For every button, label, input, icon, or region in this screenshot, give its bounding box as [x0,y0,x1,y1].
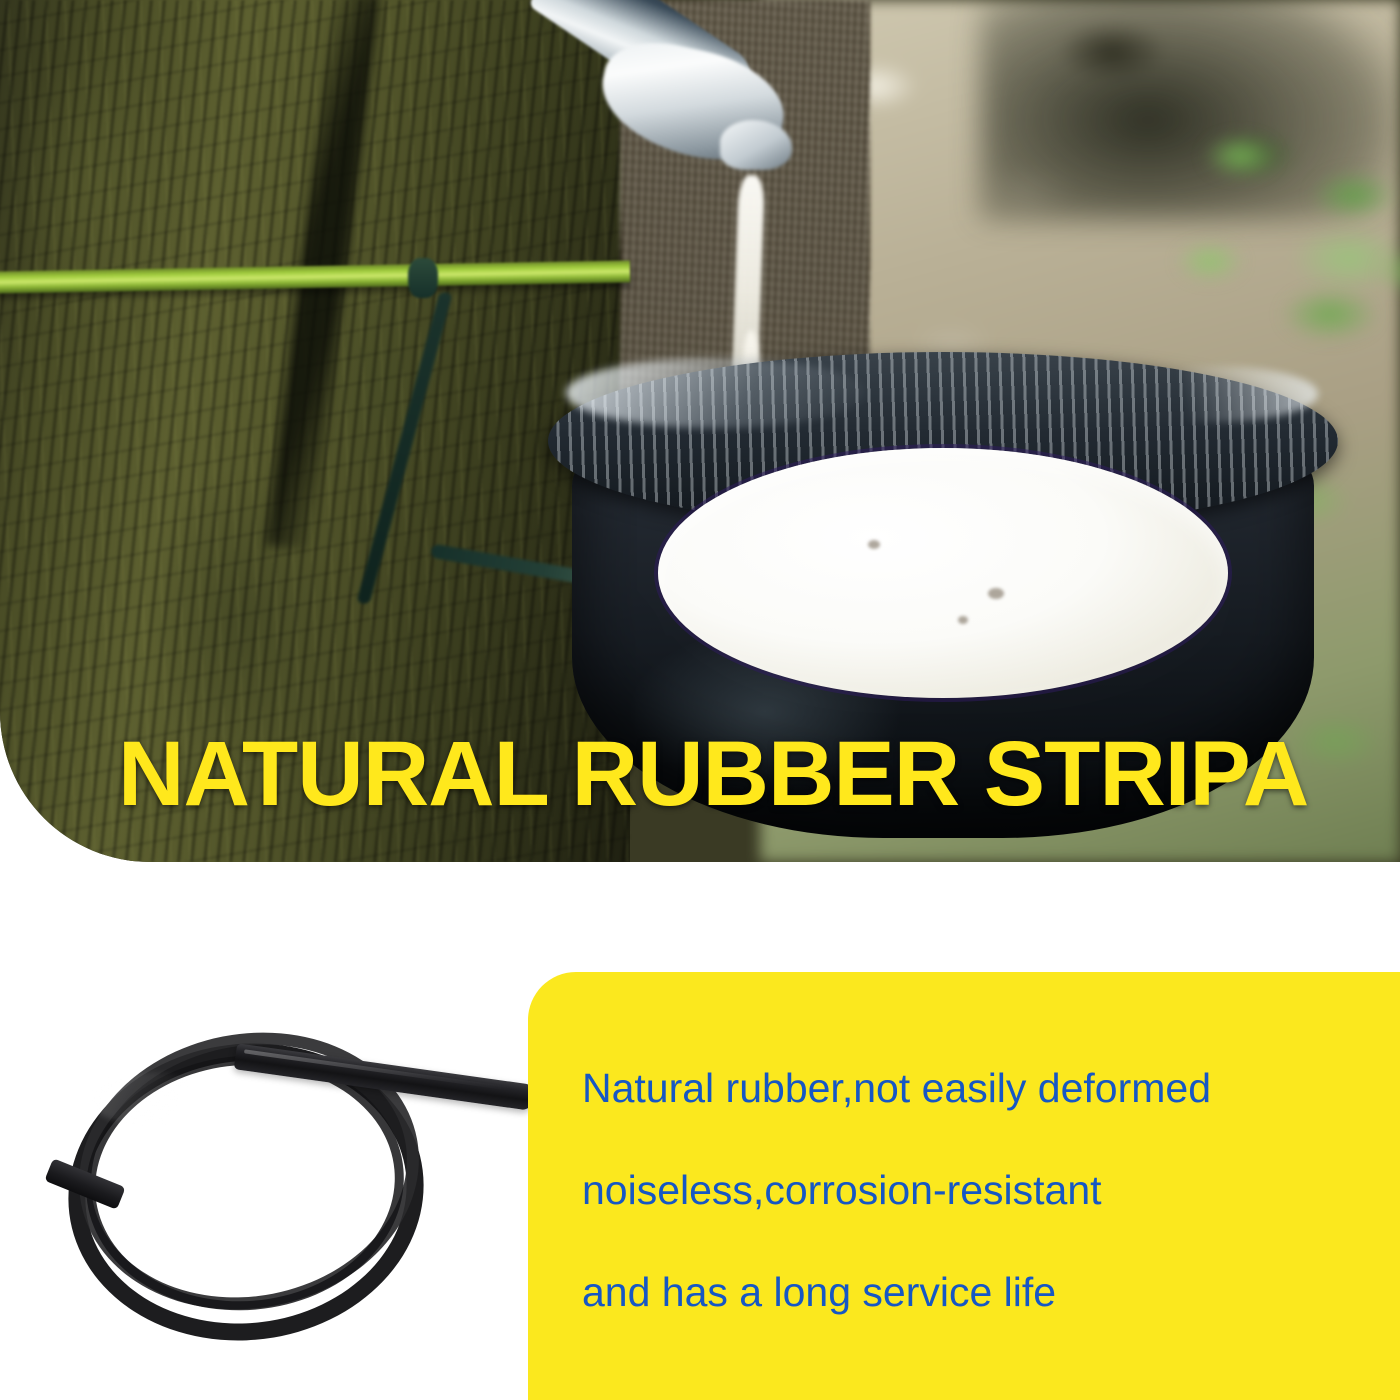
product-image-rubber-strip [20,1012,520,1342]
latex-speck [958,616,968,624]
rubber-strip-gloss [90,1072,210,1126]
feature-section: Natural rubber,not easily deformed noise… [0,862,1400,1400]
feature-card: Natural rubber,not easily deformed noise… [528,972,1400,1400]
cup-rim-highlight-right [1108,366,1318,422]
feature-bullet: noiseless,corrosion-resistant [582,1170,1382,1211]
page-title: NATURAL RUBBER STRIPA [118,728,1308,820]
latex-speck [868,540,880,549]
band-knot [408,258,438,298]
hero-banner: NATURAL RUBBER STRIPA [0,0,1400,862]
tapping-spout [520,0,820,205]
latex-pool [658,448,1228,698]
spout-lip [720,120,792,170]
feature-bullet: and has a long service life [582,1272,1382,1313]
feature-bullet-list: Natural rubber,not easily deformed noise… [582,1068,1382,1313]
latex-speck [988,588,1004,599]
feature-bullet: Natural rubber,not easily deformed [582,1068,1382,1109]
cup-rim-highlight-left [566,358,866,428]
